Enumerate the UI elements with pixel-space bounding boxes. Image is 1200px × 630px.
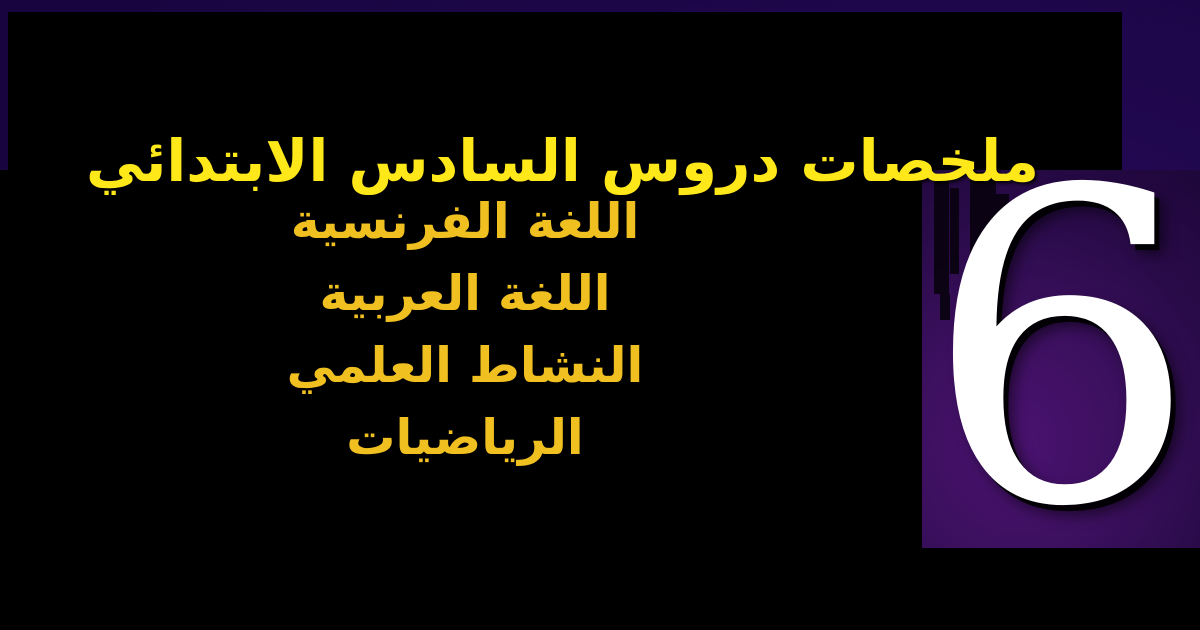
poster: 6 ملخصات دروس السادس الابتدائي اللغة الف… xyxy=(0,0,1200,630)
subject-list: اللغة الفرنسية اللغة العربية النشاط العل… xyxy=(0,186,930,474)
grade-number-card: 6 xyxy=(922,170,1200,548)
subject-item: النشاط العلمي xyxy=(0,330,930,402)
subject-item: الرياضيات xyxy=(0,402,930,474)
grade-number: 6 xyxy=(922,170,1200,548)
subject-item: اللغة العربية xyxy=(0,258,930,330)
subject-item: اللغة الفرنسية xyxy=(0,186,930,258)
footer-backdrop xyxy=(0,548,1200,630)
page-title: ملخصات دروس السادس الابتدائي xyxy=(0,131,1125,192)
